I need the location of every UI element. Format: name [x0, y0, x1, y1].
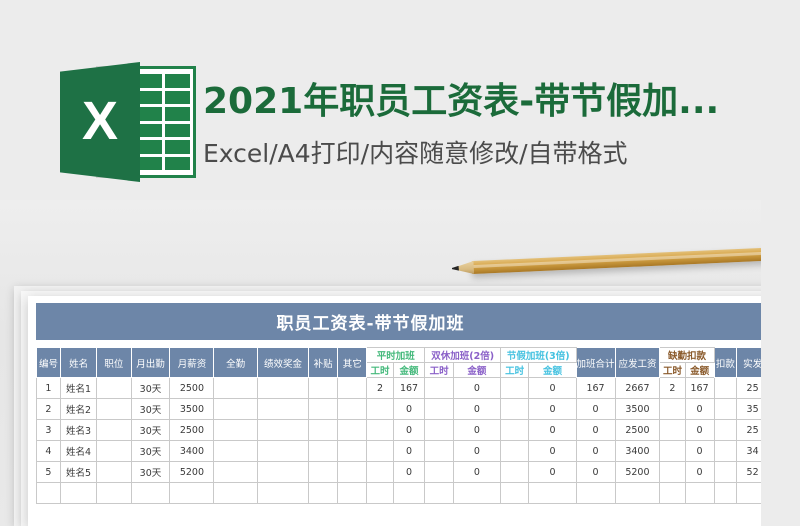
- cell-perf_bonus[interactable]: [257, 399, 308, 420]
- cell-normal_hours[interactable]: [367, 441, 393, 462]
- cell-ot_total[interactable]: 0: [576, 462, 615, 483]
- cell-no[interactable]: 3: [37, 420, 61, 441]
- cell-full_attend[interactable]: [214, 378, 257, 399]
- hero-banner: X 2021年职员工资表-带节假加... Excel/A4打印/内容随意修改/自…: [0, 0, 800, 232]
- cell-name[interactable]: 姓名1: [60, 378, 96, 399]
- cell-no[interactable]: 2: [37, 399, 61, 420]
- cell-subsidy[interactable]: [309, 420, 338, 441]
- cell-holiday_amt[interactable]: 0: [529, 399, 576, 420]
- cell-holiday_hours[interactable]: [500, 441, 528, 462]
- cell-perf_bonus[interactable]: [257, 420, 308, 441]
- cell-no[interactable]: 5: [37, 462, 61, 483]
- cell-absent_hours[interactable]: [660, 441, 685, 462]
- table-header-row-top: 编号姓名职位月出勤月薪资全勤绩效奖金补贴其它平时加班双休加班(2倍)节假加班(3…: [37, 348, 769, 363]
- cell-ot_total[interactable]: 0: [576, 399, 615, 420]
- cell-normal_hours[interactable]: [367, 483, 393, 504]
- cell-salary[interactable]: [170, 483, 214, 504]
- cell-attendance[interactable]: 30天: [131, 441, 170, 462]
- cell-gross_pay[interactable]: [615, 483, 660, 504]
- excel-icon: X: [60, 62, 200, 182]
- col-header-holiday_ot-hours[interactable]: 工时: [500, 363, 528, 378]
- cell-position[interactable]: [97, 441, 131, 462]
- col-header-perf_bonus[interactable]: 绩效奖金: [257, 348, 308, 378]
- cell-holiday_hours[interactable]: [500, 378, 528, 399]
- col-group-header-weekend_ot[interactable]: 双休加班(2倍): [425, 348, 501, 363]
- cell-deduction[interactable]: [714, 462, 737, 483]
- col-group-header-absent[interactable]: 缺勤扣款: [660, 348, 714, 363]
- page-title: 2021年职员工资表-带节假加...: [203, 72, 719, 124]
- col-header-weekend_ot-hours[interactable]: 工时: [425, 363, 453, 378]
- cell-absent_amt[interactable]: 0: [685, 399, 714, 420]
- cell-deduction[interactable]: [714, 399, 737, 420]
- cell-absent_hours[interactable]: [660, 462, 685, 483]
- cell-subsidy[interactable]: [309, 462, 338, 483]
- col-header-ot_total[interactable]: 加班合计: [576, 348, 615, 378]
- table-row[interactable]: 1姓名130天25002167001672667216725: [37, 378, 769, 399]
- cell-holiday_amt[interactable]: 0: [529, 378, 576, 399]
- cell-perf_bonus[interactable]: [257, 441, 308, 462]
- cell-holiday_hours[interactable]: [500, 420, 528, 441]
- cell-position[interactable]: [97, 420, 131, 441]
- cell-absent_amt[interactable]: 0: [685, 462, 714, 483]
- cell-gross_pay[interactable]: 5200: [615, 462, 660, 483]
- col-header-normal_ot-hours[interactable]: 工时: [367, 363, 393, 378]
- cell-name[interactable]: 姓名4: [60, 441, 96, 462]
- cell-holiday_amt[interactable]: 0: [529, 420, 576, 441]
- cell-salary[interactable]: 3500: [170, 399, 214, 420]
- cell-position[interactable]: [97, 378, 131, 399]
- cell-no[interactable]: 1: [37, 378, 61, 399]
- viewport-clip: [761, 0, 800, 526]
- cell-subsidy[interactable]: [309, 399, 338, 420]
- cell-name[interactable]: 姓名5: [60, 462, 96, 483]
- cell-attendance[interactable]: [131, 483, 170, 504]
- table-row[interactable]: 5姓名530天520000005200052: [37, 462, 769, 483]
- table-row[interactable]: 4姓名430天340000003400034: [37, 441, 769, 462]
- col-header-no[interactable]: 编号: [37, 348, 61, 378]
- cell-normal_hours[interactable]: [367, 420, 393, 441]
- cell-normal_amt[interactable]: 0: [393, 399, 425, 420]
- table-row[interactable]: 3姓名330天250000002500025: [37, 420, 769, 441]
- cell-holiday_hours[interactable]: [500, 399, 528, 420]
- cell-absent_hours[interactable]: [660, 483, 685, 504]
- cell-attendance[interactable]: 30天: [131, 462, 170, 483]
- pencil-tip: [452, 266, 459, 271]
- cell-attendance[interactable]: 30天: [131, 399, 170, 420]
- cell-subsidy[interactable]: [309, 378, 338, 399]
- cell-weekend_hours[interactable]: [425, 399, 453, 420]
- cell-other[interactable]: [338, 483, 367, 504]
- cell-normal_amt[interactable]: [393, 483, 425, 504]
- cell-deduction[interactable]: [714, 420, 737, 441]
- cell-absent_amt[interactable]: 167: [685, 378, 714, 399]
- cell-holiday_amt[interactable]: 0: [529, 462, 576, 483]
- cell-name[interactable]: 姓名2: [60, 399, 96, 420]
- cell-no[interactable]: 4: [37, 441, 61, 462]
- cell-full_attend[interactable]: [214, 399, 257, 420]
- col-header-absent-amount[interactable]: 金额: [685, 363, 714, 378]
- cell-perf_bonus[interactable]: [257, 483, 308, 504]
- cell-other[interactable]: [338, 462, 367, 483]
- cell-other[interactable]: [338, 441, 367, 462]
- cell-other[interactable]: [338, 399, 367, 420]
- cell-position[interactable]: [97, 483, 131, 504]
- cell-ot_total[interactable]: 0: [576, 441, 615, 462]
- cell-deduction[interactable]: [714, 441, 737, 462]
- cell-salary[interactable]: 3400: [170, 441, 214, 462]
- cell-gross_pay[interactable]: 3500: [615, 399, 660, 420]
- cell-subsidy[interactable]: [309, 483, 338, 504]
- spreadsheet-title: 职员工资表-带节假加班: [36, 303, 769, 340]
- cell-absent_amt[interactable]: 0: [685, 420, 714, 441]
- cell-gross_pay[interactable]: 2500: [615, 420, 660, 441]
- cell-weekend_hours[interactable]: [425, 483, 453, 504]
- spreadsheet-inner: 职员工资表-带节假加班 编号姓名职位月出勤月薪资全勤绩效奖金补贴其它平时加班双休…: [36, 303, 769, 523]
- cell-weekend_amt[interactable]: [453, 483, 500, 504]
- cell-full_attend[interactable]: [214, 420, 257, 441]
- cell-weekend_amt[interactable]: 0: [453, 420, 500, 441]
- cell-ot_total[interactable]: 167: [576, 378, 615, 399]
- cell-weekend_hours[interactable]: [425, 441, 453, 462]
- cell-holiday_hours[interactable]: [500, 483, 528, 504]
- cell-weekend_amt[interactable]: 0: [453, 462, 500, 483]
- cell-normal_hours[interactable]: [367, 399, 393, 420]
- cell-normal_hours[interactable]: [367, 462, 393, 483]
- cell-normal_amt[interactable]: 0: [393, 462, 425, 483]
- cell-weekend_hours[interactable]: [425, 420, 453, 441]
- cell-gross_pay[interactable]: 2667: [615, 378, 660, 399]
- cell-deduction[interactable]: [714, 378, 737, 399]
- cell-normal_amt[interactable]: 167: [393, 378, 425, 399]
- spreadsheet-preview[interactable]: 职员工资表-带节假加班 编号姓名职位月出勤月薪资全勤绩效奖金补贴其它平时加班双休…: [28, 296, 774, 526]
- col-header-gross_pay[interactable]: 应发工资: [615, 348, 660, 378]
- col-header-holiday_ot-amount[interactable]: 金额: [529, 363, 576, 378]
- cell-perf_bonus[interactable]: [257, 462, 308, 483]
- cell-salary[interactable]: 2500: [170, 378, 214, 399]
- cell-weekend_amt[interactable]: 0: [453, 441, 500, 462]
- cell-other[interactable]: [338, 420, 367, 441]
- table-header: 编号姓名职位月出勤月薪资全勤绩效奖金补贴其它平时加班双休加班(2倍)节假加班(3…: [37, 348, 769, 378]
- cell-weekend_amt[interactable]: 0: [453, 399, 500, 420]
- cell-name[interactable]: 姓名3: [60, 420, 96, 441]
- col-group-header-normal_ot[interactable]: 平时加班: [367, 348, 425, 363]
- cell-attendance[interactable]: 30天: [131, 420, 170, 441]
- table-body[interactable]: 1姓名130天250021670016726672167252姓名230天350…: [37, 378, 769, 504]
- col-header-subsidy[interactable]: 补贴: [309, 348, 338, 378]
- cell-absent_amt[interactable]: 0: [685, 441, 714, 462]
- cell-other[interactable]: [338, 378, 367, 399]
- cell-name[interactable]: [60, 483, 96, 504]
- table-row[interactable]: 2姓名230天350000003500035: [37, 399, 769, 420]
- cell-ot_total[interactable]: [576, 483, 615, 504]
- col-header-name[interactable]: 姓名: [60, 348, 96, 378]
- cell-absent_hours[interactable]: 2: [660, 378, 685, 399]
- cell-full_attend[interactable]: [214, 441, 257, 462]
- col-header-other[interactable]: 其它: [338, 348, 367, 378]
- cell-holiday_hours[interactable]: [500, 462, 528, 483]
- cell-absent_hours[interactable]: [660, 399, 685, 420]
- cell-absent_hours[interactable]: [660, 420, 685, 441]
- cell-position[interactable]: [97, 399, 131, 420]
- excel-icon-letter: X: [60, 62, 140, 182]
- col-header-salary[interactable]: 月薪资: [170, 348, 214, 378]
- cell-no[interactable]: [37, 483, 61, 504]
- cell-normal_amt[interactable]: 0: [393, 441, 425, 462]
- cell-weekend_hours[interactable]: [425, 462, 453, 483]
- cell-holiday_amt[interactable]: [529, 483, 576, 504]
- col-header-attendance[interactable]: 月出勤: [131, 348, 170, 378]
- cell-position[interactable]: [97, 462, 131, 483]
- cell-full_attend[interactable]: [214, 462, 257, 483]
- table-row[interactable]: [37, 483, 769, 504]
- cell-full_attend[interactable]: [214, 483, 257, 504]
- cell-attendance[interactable]: 30天: [131, 378, 170, 399]
- cell-perf_bonus[interactable]: [257, 378, 308, 399]
- cell-salary[interactable]: 5200: [170, 462, 214, 483]
- cell-subsidy[interactable]: [309, 441, 338, 462]
- col-group-header-holiday_ot[interactable]: 节假加班(3倍): [500, 348, 576, 363]
- payroll-table[interactable]: 编号姓名职位月出勤月薪资全勤绩效奖金补贴其它平时加班双休加班(2倍)节假加班(3…: [36, 347, 769, 504]
- col-header-normal_ot-amount[interactable]: 金额: [393, 363, 425, 378]
- col-header-full_attend[interactable]: 全勤: [214, 348, 257, 378]
- cell-salary[interactable]: 2500: [170, 420, 214, 441]
- col-header-deduction[interactable]: 扣款: [714, 348, 737, 378]
- cell-gross_pay[interactable]: 3400: [615, 441, 660, 462]
- cell-absent_amt[interactable]: [685, 483, 714, 504]
- cell-weekend_hours[interactable]: [425, 378, 453, 399]
- col-header-absent-hours[interactable]: 工时: [660, 363, 685, 378]
- cell-normal_hours[interactable]: 2: [367, 378, 393, 399]
- col-header-weekend_ot-amount[interactable]: 金额: [453, 363, 500, 378]
- cell-normal_amt[interactable]: 0: [393, 420, 425, 441]
- cell-weekend_amt[interactable]: 0: [453, 378, 500, 399]
- col-header-position[interactable]: 职位: [97, 348, 131, 378]
- cell-deduction[interactable]: [714, 483, 737, 504]
- cell-holiday_amt[interactable]: 0: [529, 441, 576, 462]
- page-subtitle: Excel/A4打印/内容随意修改/自带格式: [203, 134, 628, 170]
- cell-ot_total[interactable]: 0: [576, 420, 615, 441]
